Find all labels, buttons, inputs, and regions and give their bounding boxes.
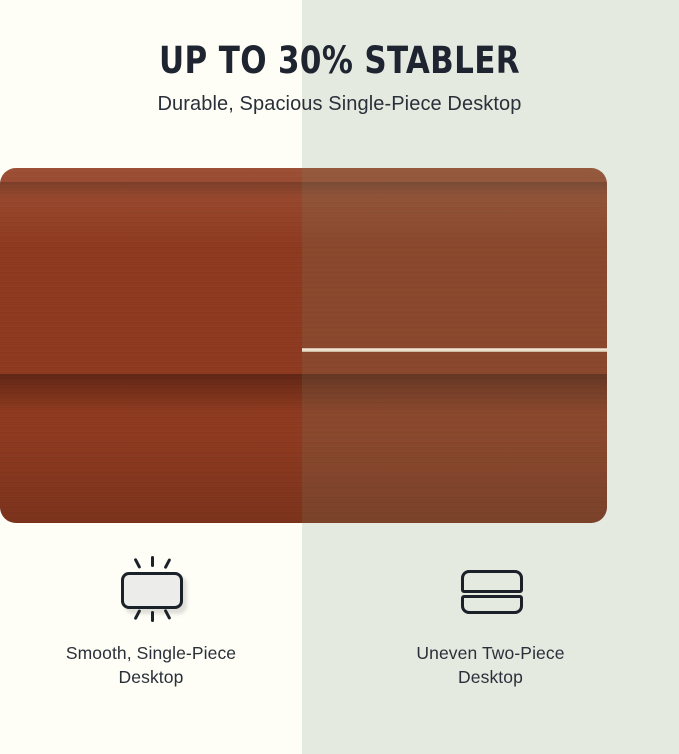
caption-line-2: Desktop: [66, 665, 236, 689]
comparison-item-single-piece: Smooth, Single-Piece Desktop: [0, 545, 302, 720]
single-piece-slab-icon: [103, 563, 199, 625]
product-comparison-graphic: UP TO 30% STABLER Durable, Spacious Sing…: [0, 0, 679, 754]
headline: UP TO 30% STABLER: [24, 40, 655, 82]
subheadline: Durable, Spacious Single-Piece Desktop: [0, 91, 679, 117]
comparison-row: Smooth, Single-Piece Desktop Uneven Two-…: [0, 545, 679, 720]
shine-mark-bottom-center: [151, 611, 154, 622]
slab-body: [121, 572, 183, 609]
desktop-product-photo: [0, 168, 607, 523]
caption-line-1: Uneven Two-Piece: [416, 641, 564, 665]
shine-mark-top-left: [134, 558, 141, 569]
two-piece-slab-icon: [443, 563, 539, 625]
two-piece-seam-line: [302, 348, 607, 352]
comparison-caption-left: Smooth, Single-Piece Desktop: [66, 641, 236, 689]
shine-mark-top-center: [151, 556, 154, 567]
photo-green-overlay: [302, 168, 607, 523]
caption-line-2: Desktop: [416, 665, 564, 689]
shine-mark-top-right: [164, 558, 171, 569]
caption-line-1: Smooth, Single-Piece: [66, 641, 236, 665]
slab-piece-top: [461, 570, 523, 593]
slab-piece-bottom: [461, 595, 523, 614]
comparison-item-two-piece: Uneven Two-Piece Desktop: [302, 545, 679, 720]
comparison-caption-right: Uneven Two-Piece Desktop: [416, 641, 564, 689]
headline-block: UP TO 30% STABLER Durable, Spacious Sing…: [0, 0, 679, 117]
